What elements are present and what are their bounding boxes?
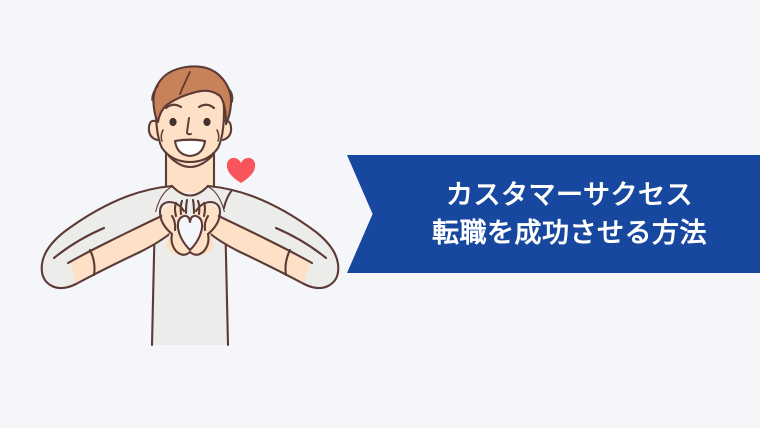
fingertip-3 — [186, 200, 187, 213]
fingertip-1 — [175, 203, 176, 216]
hero-banner-image: カスタマーサクセス 転職を成功させる方法 — [0, 0, 760, 428]
eye-right — [203, 118, 210, 126]
illustration-svg — [0, 0, 380, 428]
title-ribbon-text: カスタマーサクセス 転職を成功させる方法 — [347, 155, 760, 273]
fingertip-4 — [193, 200, 194, 213]
title-line-1: カスタマーサクセス — [446, 176, 693, 214]
upper-lip-line — [175, 140, 205, 141]
eye-left — [169, 118, 176, 126]
floating-heart-icon — [227, 158, 255, 183]
fingertip-6 — [204, 203, 205, 216]
title-line-2: 転職を成功させる方法 — [432, 214, 707, 252]
illustration-man-heart-hands — [0, 0, 380, 428]
title-ribbon: カスタマーサクセス 転職を成功させる方法 — [347, 155, 760, 273]
